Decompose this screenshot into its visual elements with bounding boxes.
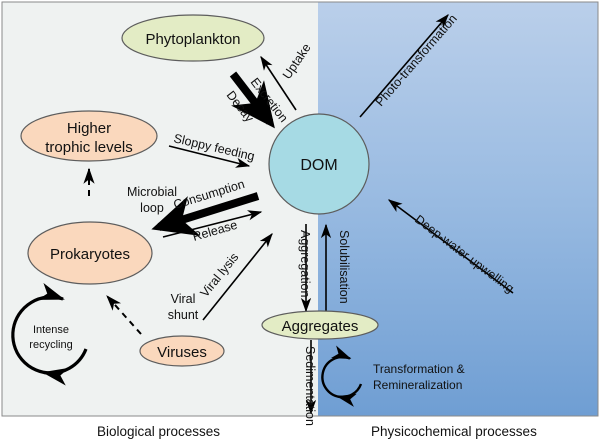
higher-trophic-levels-label-line2: trophic levels [45,139,133,156]
node-viruses[interactable]: Viruses [140,336,224,366]
microbial-loop-label-line1: Microbial [127,185,177,199]
node-higher-trophic-levels[interactable]: Higher trophic levels [21,111,157,161]
right-panel-background [318,2,598,416]
node-dom[interactable]: DOM [269,114,369,214]
higher-trophic-levels-label-line1: Higher [67,120,111,137]
node-phytoplankton[interactable]: Phytoplankton [122,15,264,61]
node-prokaryotes[interactable]: Prokaryotes [28,222,152,284]
dom-label: DOM [300,157,337,174]
transformation-label-line1: Transformation & [373,362,465,376]
node-aggregates[interactable]: Aggregates [262,311,378,339]
viruses-label: Viruses [157,344,207,361]
aggregation-label: Aggregation [298,230,312,297]
intense-recycling-label-line2: recycling [29,339,72,351]
sedimentation-label: Sedimentation [303,346,317,426]
figure-canvas: DOM Phytoplankton Higher trophic levels … [0,0,600,446]
ocean-dom-cycle-diagram: DOM Phytoplankton Higher trophic levels … [0,0,600,446]
microbial-loop-label-line2: loop [140,201,164,215]
caption-biological-processes: Biological processes [97,424,220,439]
viral-shunt-label-line2: shunt [168,308,199,322]
aggregates-label: Aggregates [282,318,359,335]
viral-shunt-label-line1: Viral [171,292,196,306]
prokaryotes-label: Prokaryotes [50,246,130,263]
caption-physicochemical-processes: Physicochemical processes [371,424,537,439]
phytoplankton-label: Phytoplankton [145,31,240,48]
intense-recycling-label-line1: Intense [33,324,69,336]
transformation-label-line2: Remineralization [373,378,462,392]
solubilisation-label: Solubilisation [337,230,351,304]
